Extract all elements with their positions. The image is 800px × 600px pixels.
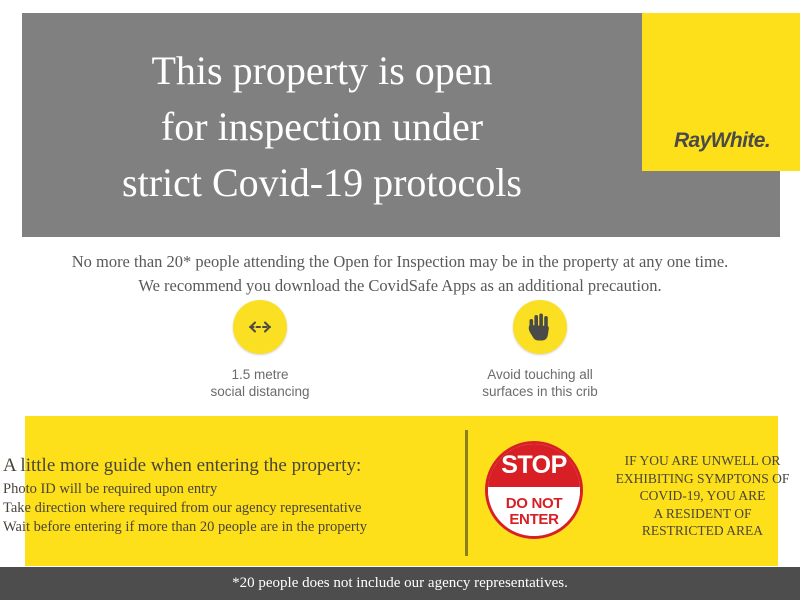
- precaution-item-avoid-touching: Avoid touching all surfaces in this crib: [460, 300, 620, 400]
- capacity-notice-line-1: No more than 20* people attending the Op…: [72, 252, 729, 271]
- covid-protocol-poster: This property is open for inspection und…: [0, 0, 800, 600]
- entry-guide-block: A little more guide when entering the pr…: [3, 454, 458, 537]
- footer-note: *20 people does not include our agency r…: [232, 575, 568, 592]
- entry-guide-heading: A little more guide when entering the pr…: [3, 454, 458, 478]
- stop-sign-bottom: DO NOT ENTER: [488, 487, 580, 536]
- unwell-notice: IF YOU ARE UNWELL OR EXHIBITING SYMPTONS…: [595, 452, 800, 540]
- guidance-panel: A little more guide when entering the pr…: [25, 416, 778, 566]
- precaution-caption-avoid-touching: Avoid touching all surfaces in this crib: [460, 366, 620, 400]
- stop-sign-top: STOP: [488, 444, 580, 487]
- double-arrow-icon: [233, 300, 287, 354]
- precaution-caption-social-distancing: 1.5 metre social distancing: [180, 366, 340, 400]
- do-not-label: DO NOT: [506, 496, 563, 512]
- capacity-notice: No more than 20* people attending the Op…: [0, 250, 800, 298]
- enter-label: ENTER: [509, 512, 558, 528]
- panel-divider: [465, 430, 468, 556]
- brand-logo-block: RayWhite.: [642, 13, 800, 171]
- stop-do-not-enter-sign: STOP DO NOT ENTER: [485, 441, 585, 541]
- raywhite-logo: RayWhite.: [642, 129, 800, 153]
- open-hand-icon: [513, 300, 567, 354]
- stop-label: STOP: [501, 453, 567, 478]
- footer-band: *20 people does not include our agency r…: [0, 567, 800, 600]
- capacity-notice-line-2: We recommend you download the CovidSafe …: [0, 274, 800, 298]
- precaution-icons-row: 1.5 metre social distancing Avoid touchi…: [160, 300, 640, 400]
- page-title: This property is open for inspection und…: [22, 43, 622, 211]
- precaution-item-social-distancing: 1.5 metre social distancing: [180, 300, 340, 400]
- entry-guide-item: Photo ID will be required upon entry: [3, 480, 458, 499]
- entry-guide-item: Wait before entering if more than 20 peo…: [3, 518, 458, 537]
- entry-guide-item: Take direction where required from our a…: [3, 499, 458, 518]
- header-band: This property is open for inspection und…: [22, 13, 780, 237]
